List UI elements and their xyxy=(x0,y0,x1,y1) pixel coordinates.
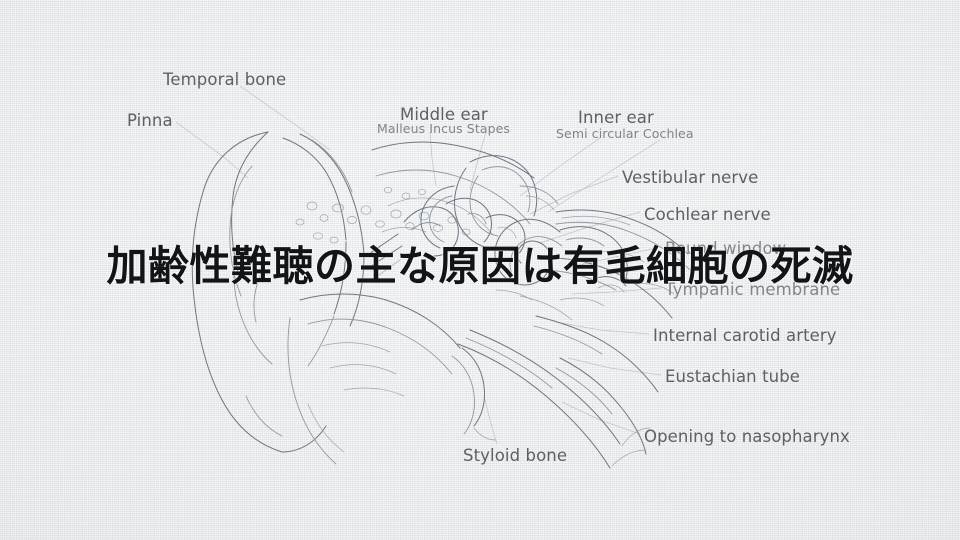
label-cochlear-nerve: Cochlear nerve xyxy=(644,206,771,223)
label-styloid-bone: Styloid bone xyxy=(463,447,567,464)
label-middle-ear-ossicles: Malleus Incus Stapes xyxy=(377,122,510,135)
subtitle-overlay: 加齢性難聴の主な原因は有毛細胞の死滅 xyxy=(0,243,960,289)
label-opening-to-nasopharynx: Opening to nasopharynx xyxy=(644,428,850,445)
video-frame: Temporal bone Pinna Middle ear Malleus I… xyxy=(0,0,960,540)
label-pinna: Pinna xyxy=(127,112,173,129)
label-temporal-bone: Temporal bone xyxy=(163,71,286,88)
label-inner-ear-parts: Semi circular Cochlea xyxy=(556,127,694,140)
label-eustachian-tube: Eustachian tube xyxy=(665,368,800,385)
label-inner-ear: Inner ear xyxy=(578,109,654,126)
label-internal-carotid-artery: Internal carotid artery xyxy=(653,327,837,344)
label-vestibular-nerve: Vestibular nerve xyxy=(622,169,758,186)
